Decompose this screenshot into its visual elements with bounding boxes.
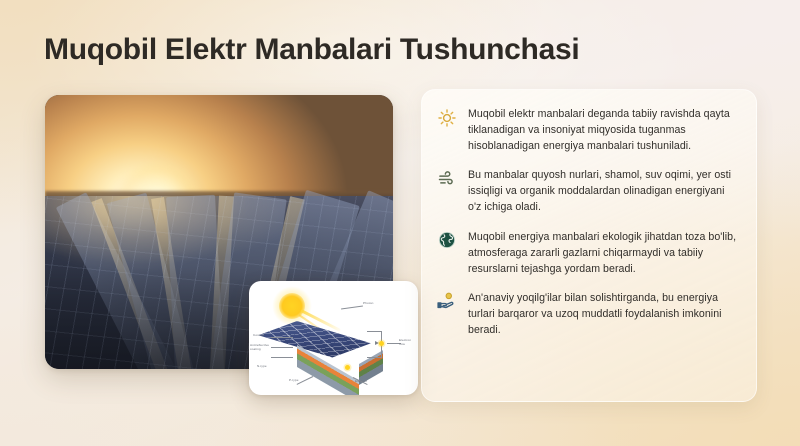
diagram-label-ptype: P-type — [289, 379, 299, 383]
solar-cell-slab — [293, 321, 385, 379]
diagram-label-electron-flow: Electron flow — [399, 339, 416, 347]
diagram-label-contact: Contact — [253, 334, 264, 338]
list-item: Bu manbalar quyosh nurlari, shamol, suv … — [436, 167, 738, 215]
info-panel: Muqobil elektr manbalari deganda tabiiy … — [421, 89, 757, 402]
leader-line-contact — [271, 337, 293, 338]
list-item-text: Bu manbalar quyosh nurlari, shamol, suv … — [468, 167, 738, 215]
list-item-text: Muqobil energiya manbalari ekologik jiha… — [468, 229, 738, 277]
hand-coin-icon — [436, 291, 457, 312]
leader-line-ntype — [271, 357, 293, 358]
wind-icon — [436, 168, 457, 189]
leader-line-coating — [271, 347, 293, 348]
diagram-label-coating: Antireflective coating — [250, 344, 272, 352]
diagram-label-photon: Photon — [363, 302, 373, 306]
solar-cell-diagram-card: Contact Antireflective coating N-type P-… — [249, 281, 418, 395]
list-item-text: An'anaviy yoqilg'ilar bilan solishtirgan… — [468, 290, 738, 338]
page-title: Muqobil Elektr Manbalari Tushunchasi — [44, 33, 579, 67]
sunset-sky — [45, 95, 393, 199]
list-item: An'anaviy yoqilg'ilar bilan solishtirgan… — [436, 290, 738, 338]
leader-line-photon — [341, 305, 363, 309]
circuit-wire-bottom — [367, 357, 382, 358]
list-item: Muqobil elektr manbalari deganda tabiiy … — [436, 106, 738, 154]
list-item-text: Muqobil elektr manbalari deganda tabiiy … — [468, 106, 738, 154]
electron-dot-circuit — [379, 341, 384, 346]
diagram-label-ntype: N-type — [257, 365, 267, 369]
sun-icon — [436, 107, 457, 128]
solar-cell-top-surface — [258, 321, 371, 357]
globe-icon — [436, 230, 457, 251]
diagram-label-electron: Electron — [355, 380, 367, 384]
electron-dot-cell — [345, 365, 350, 370]
list-item: Muqobil energiya manbalari ekologik jiha… — [436, 229, 738, 277]
circuit-wire-top — [367, 331, 382, 332]
